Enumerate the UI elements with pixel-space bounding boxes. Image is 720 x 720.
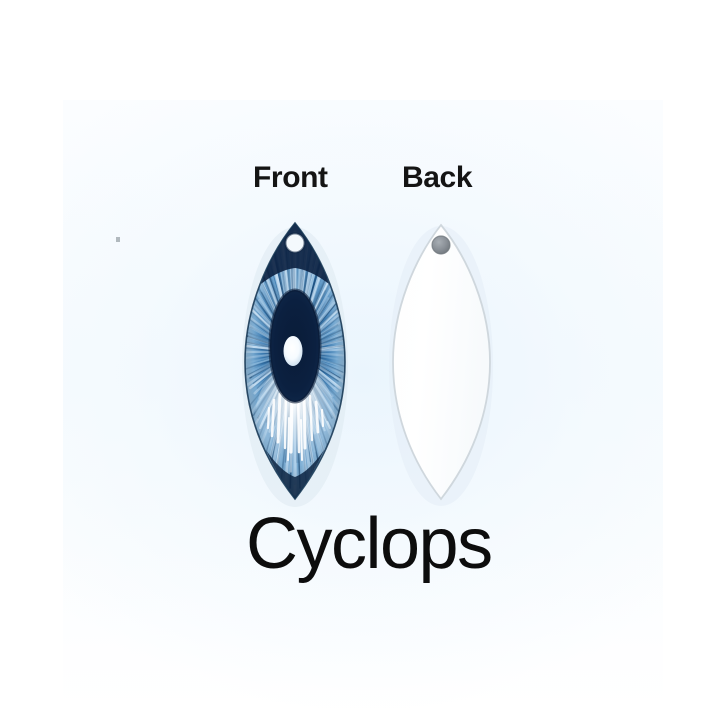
product-title: Cyclops [246,508,492,580]
photo-backdrop-panel [63,100,663,710]
blade-back-image [392,224,491,500]
label-front: Front [253,163,328,193]
blade-front-image [244,222,346,500]
backdrop-speck [116,237,120,242]
product-photo: Front Back Cyclops [0,0,720,720]
label-back: Back [402,163,472,193]
